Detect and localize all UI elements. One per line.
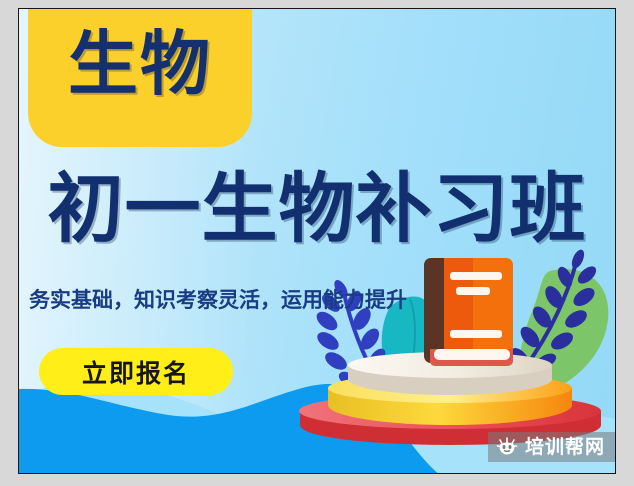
book-label-line-1 <box>450 272 502 280</box>
subtitle-text: 务实基础，知识考察灵活，运用能力提升 <box>29 290 407 311</box>
subject-badge-label: 生物 <box>28 29 252 99</box>
poster-canvas: 生物 初一生物补习班 务实基础，知识考察灵活，运用能力提升 立即报名 培训帮网 <box>18 8 616 474</box>
book-label-line-2 <box>456 287 490 295</box>
sun-face-icon <box>496 437 518 457</box>
watermark-text: 培训帮网 <box>525 438 605 457</box>
book-label-line-3 <box>450 330 502 338</box>
page-title: 初一生物补习班 <box>19 172 615 248</box>
book-illustration <box>424 258 513 366</box>
book-podium-illustration <box>284 245 616 445</box>
subject-badge: 生物 <box>28 8 252 147</box>
watermark: 培训帮网 <box>488 432 615 462</box>
enroll-now-button[interactable]: 立即报名 <box>39 348 233 395</box>
